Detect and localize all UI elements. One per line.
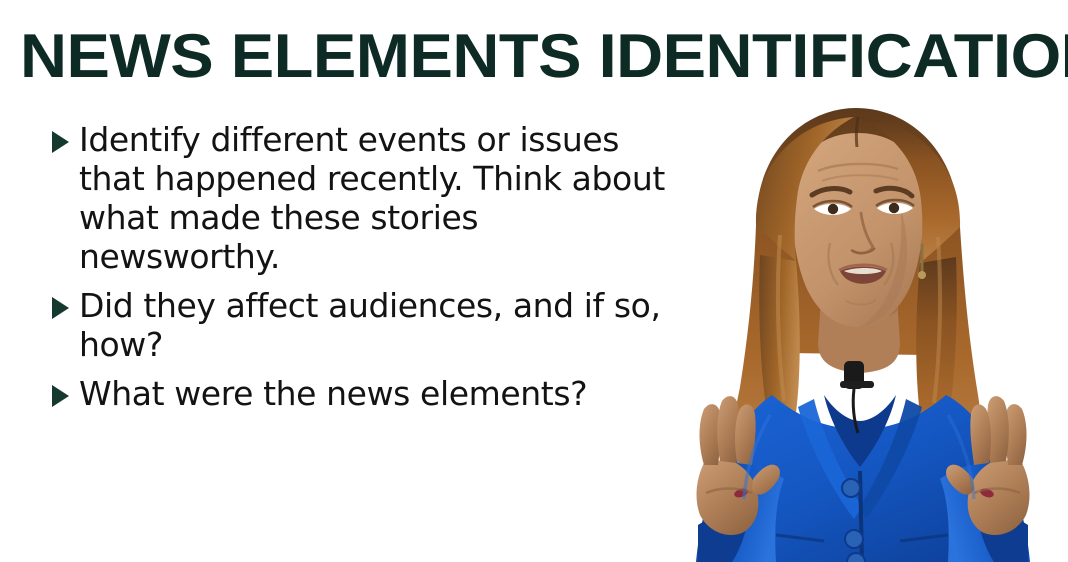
pupil-right [889, 203, 899, 213]
triangle-right-bullet-icon [52, 131, 69, 153]
list-item-text: Identify different events or issues that… [79, 120, 672, 276]
triangle-right-bullet-icon [52, 385, 69, 407]
presenter-video-figure: Woman presenter in blue blazer gesturing… [648, 95, 1068, 562]
list-item-text: What were the news elements? [79, 374, 672, 413]
hair-part [856, 117, 858, 147]
list-item: Did they affect audiences, and if so, ho… [52, 286, 672, 364]
list-item: What were the news elements? [52, 374, 672, 413]
triangle-right-bullet-icon [52, 297, 69, 319]
list-item-text: Did they affect audiences, and if so, ho… [79, 286, 672, 364]
earring-bead [918, 271, 926, 279]
slide-canvas: NEWS ELEMENTS IDENTIFICATION Identify di… [0, 0, 1068, 562]
blazer-button-1 [842, 479, 860, 497]
blazer-button-2 [845, 530, 863, 548]
page-title: NEWS ELEMENTS IDENTIFICATION [20, 24, 1068, 90]
pupil-left [828, 204, 838, 214]
list-item: Identify different events or issues that… [52, 120, 672, 276]
bullet-list: Identify different events or issues that… [52, 120, 672, 423]
blazer-button-3 [847, 553, 865, 562]
lapel-microphone-clip [840, 381, 874, 388]
presenter-illustration [648, 95, 1068, 562]
